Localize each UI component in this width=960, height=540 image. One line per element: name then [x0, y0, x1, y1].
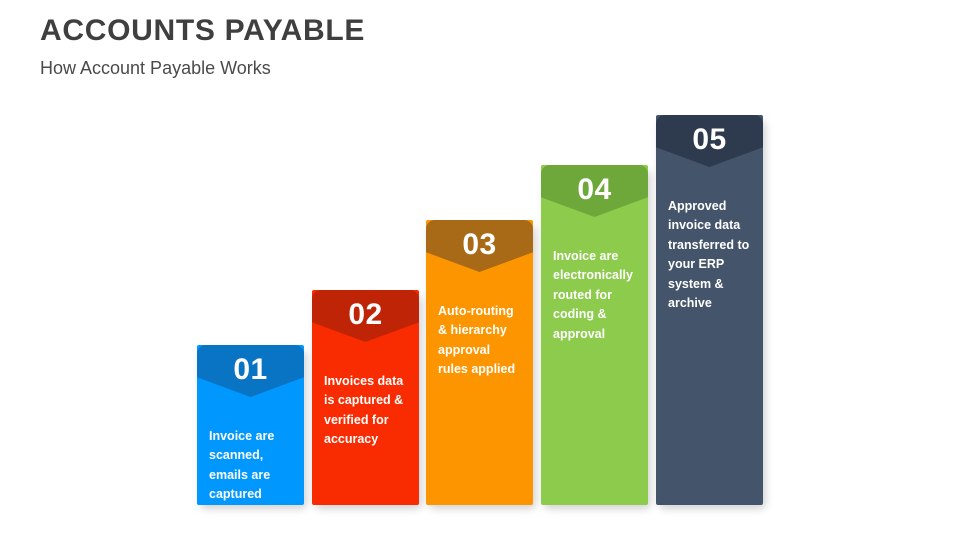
- process-step-04[interactable]: 04 Invoice are electronically routed for…: [541, 165, 648, 505]
- step-description: Invoice are electronically routed for co…: [541, 247, 648, 344]
- process-staircase-chart: 01 Invoice are scanned, emails are captu…: [0, 0, 960, 540]
- process-step-03[interactable]: 03 Auto-routing & hierarchy approval rul…: [426, 220, 533, 505]
- step-description: Approved invoice data transferred to you…: [656, 197, 763, 313]
- step-description: Invoices data is captured & verified for…: [312, 372, 419, 450]
- step-description: Auto-routing & hierarchy approval rules …: [426, 302, 533, 380]
- process-step-02[interactable]: 02 Invoices data is captured & verified …: [312, 290, 419, 505]
- process-step-05[interactable]: 05 Approved invoice data transferred to …: [656, 115, 763, 505]
- slide-canvas: ACCOUNTS PAYABLE How Account Payable Wor…: [0, 0, 960, 540]
- step-description: Invoice are scanned, emails are captured: [197, 427, 304, 505]
- process-step-01[interactable]: 01 Invoice are scanned, emails are captu…: [197, 345, 304, 505]
